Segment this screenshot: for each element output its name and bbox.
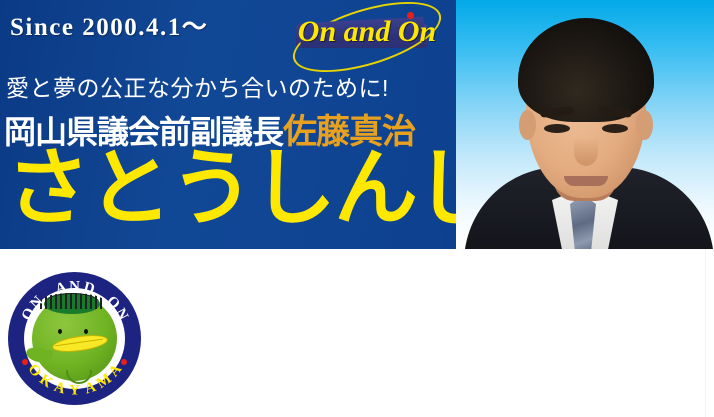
on-and-on-wordmark[interactable]: On and On	[284, 4, 450, 64]
logo-bottom-text: OKAYAMA	[8, 272, 141, 405]
banner-tagline: 愛と夢の公正な分かち合いのために!	[6, 69, 389, 103]
portrait-ear-left	[519, 110, 536, 140]
portrait-necktie	[570, 195, 596, 249]
portrait-ear-right	[636, 110, 653, 140]
candidate-portrait	[456, 0, 714, 249]
portrait-figure	[456, 0, 714, 249]
portrait-hair	[518, 18, 654, 122]
since-label: Since 2000.4.1～	[10, 7, 208, 43]
page-root: Since 2000.4.1～ 愛と夢の公正な分かち合いのために! 岡山県議会前…	[0, 0, 714, 417]
banner-blue-panel: Since 2000.4.1～ 愛と夢の公正な分かち合いのために! 岡山県議会前…	[0, 0, 456, 249]
portrait-eye-right	[602, 124, 628, 133]
grass-decoration-left	[452, 387, 518, 417]
wordmark-red-dot-icon	[407, 12, 414, 19]
banner-candidate-name: さとうしんじ	[6, 146, 498, 230]
on-and-on-okayama-logo[interactable]: ON AND ON OKAYAMA	[8, 272, 141, 405]
wordmark-text: On and On	[294, 17, 440, 47]
portrait-mouth	[564, 176, 608, 186]
portrait-nose	[574, 138, 598, 166]
right-edge-divider	[705, 249, 706, 417]
portrait-eye-left	[544, 124, 570, 133]
header-banner: Since 2000.4.1～ 愛と夢の公正な分かち合いのために! 岡山県議会前…	[0, 0, 714, 249]
grass-decoration-right	[640, 395, 670, 417]
